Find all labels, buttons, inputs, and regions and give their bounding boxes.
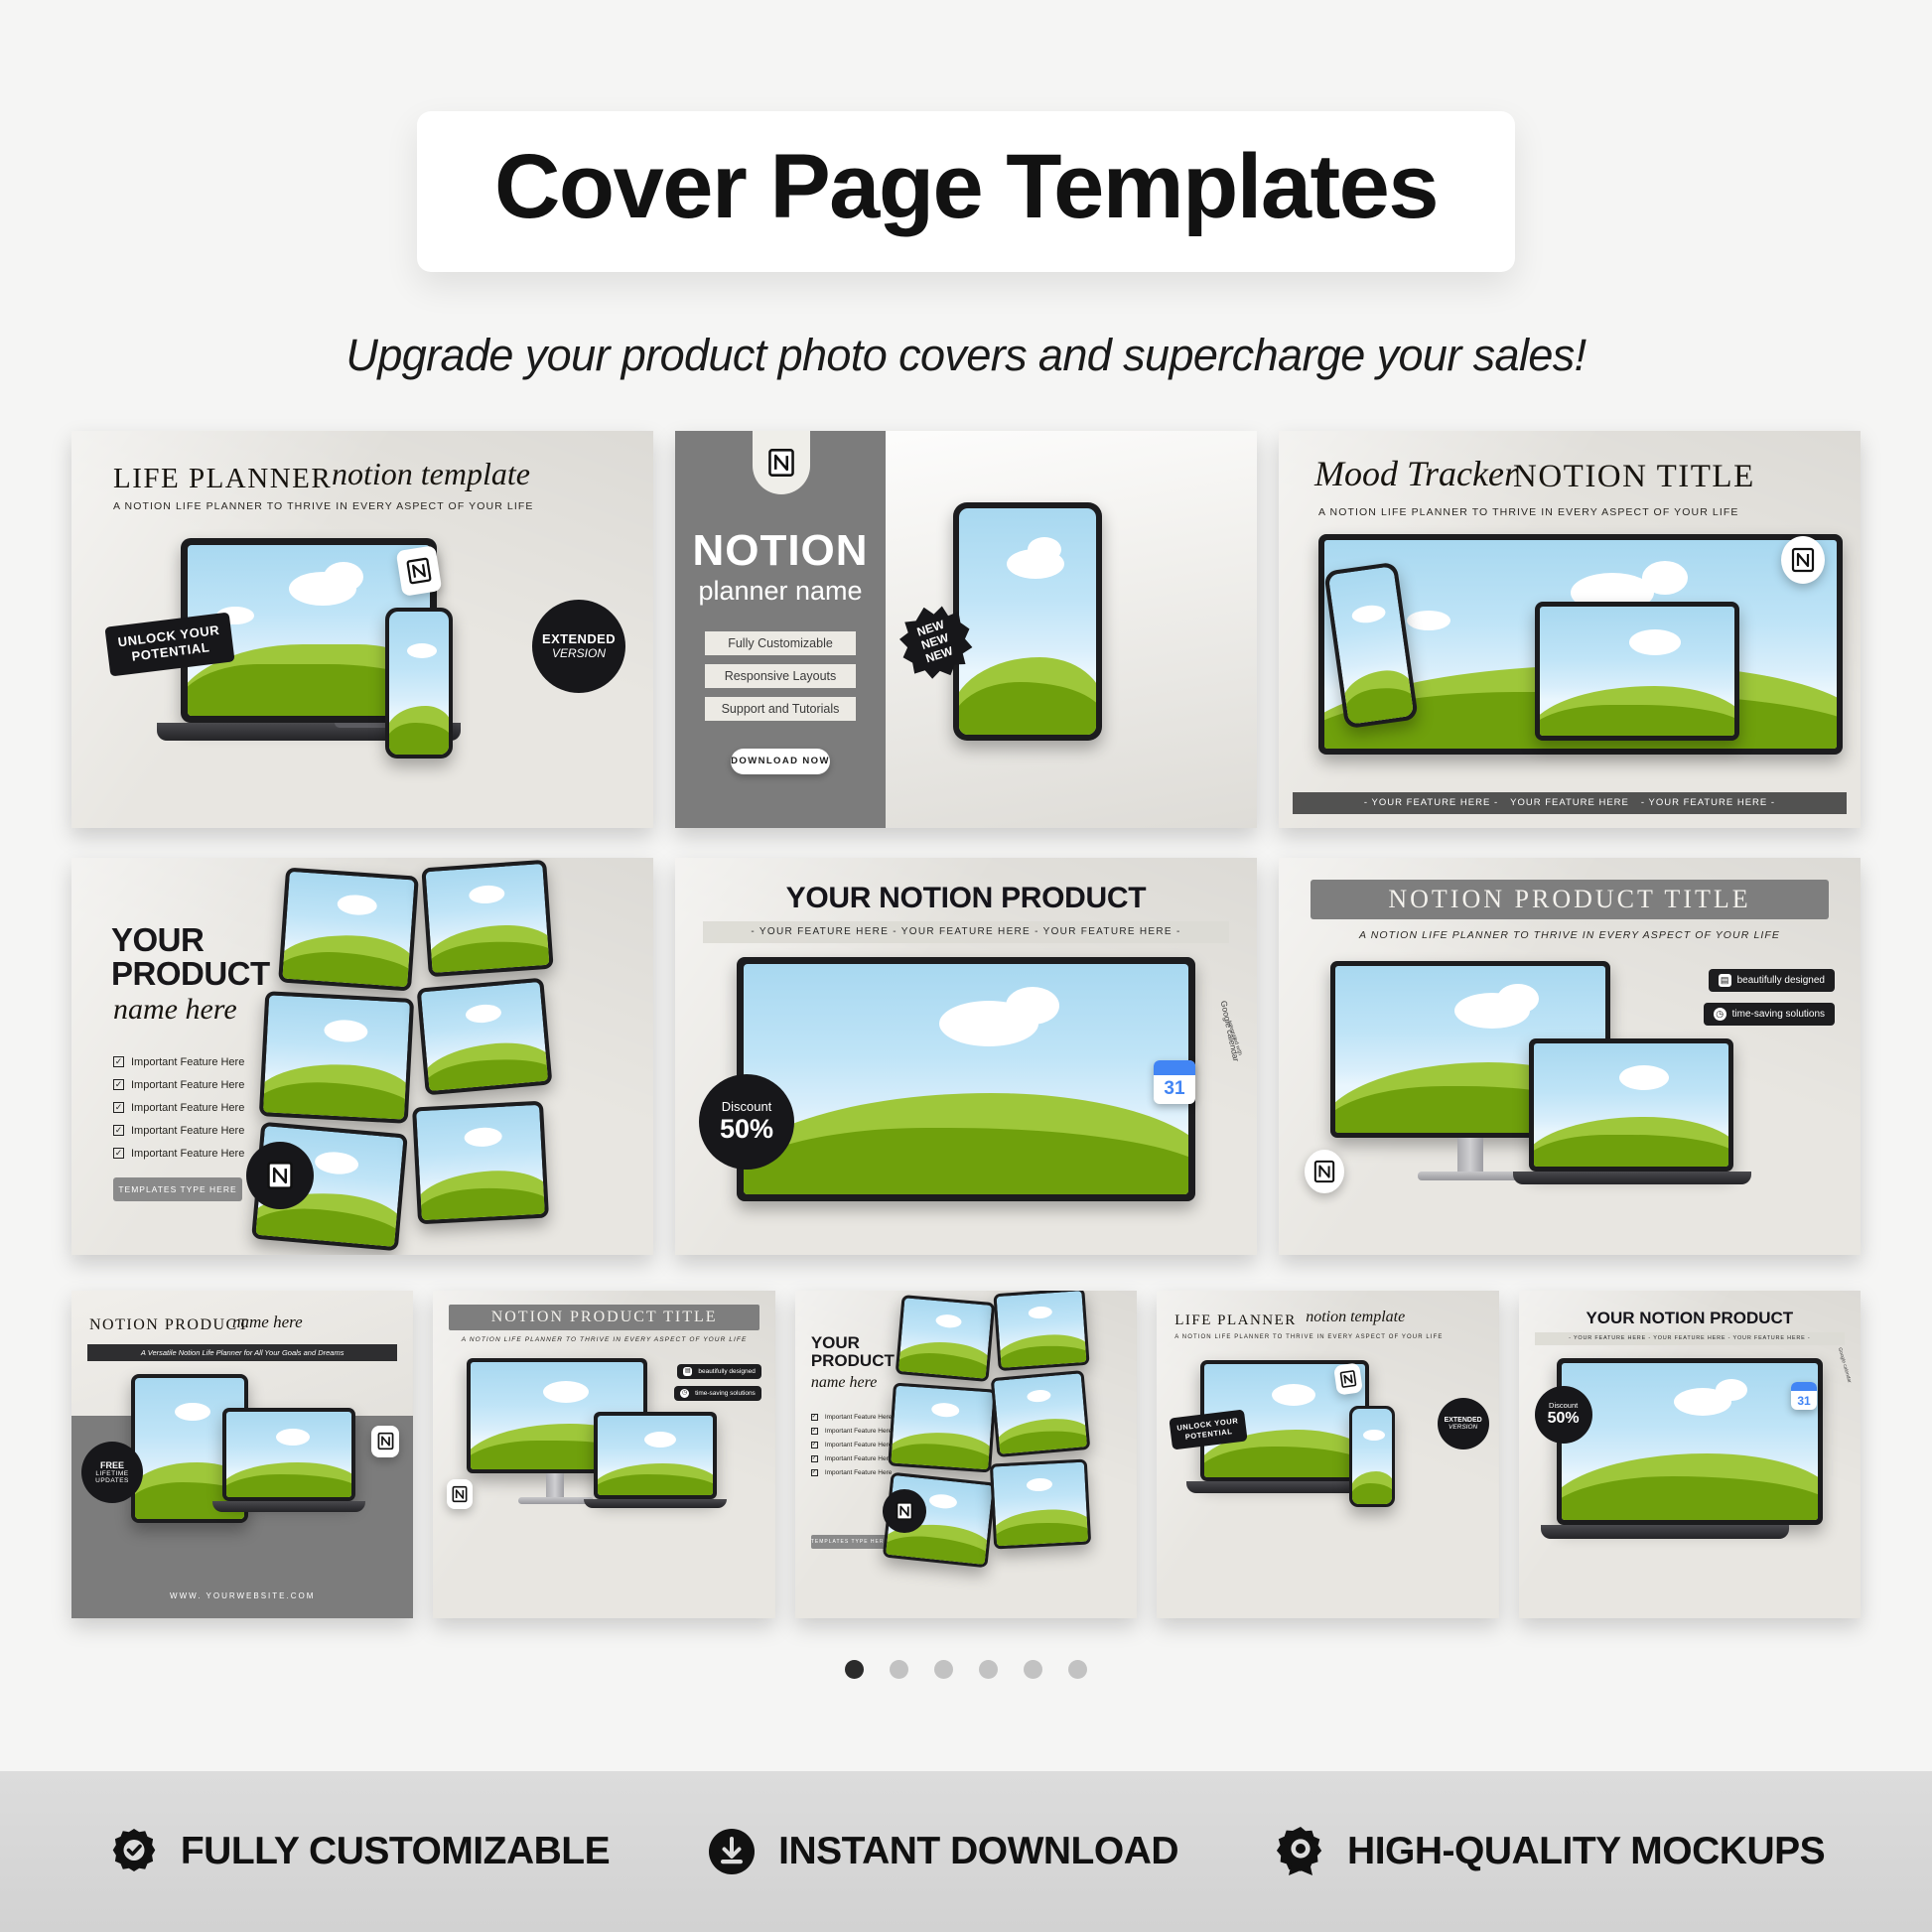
check-icon: ✓ bbox=[811, 1442, 818, 1449]
laptop-base bbox=[1513, 1172, 1751, 1184]
title-plate: Cover Page Templates bbox=[417, 111, 1515, 272]
card4-title-line-1: YOUR bbox=[111, 923, 204, 958]
phone-device bbox=[385, 608, 453, 759]
time-saving-chip: ◷ time-saving solutions bbox=[674, 1386, 761, 1401]
card3-feature-strip: - YOUR FEATURE HERE - YOUR FEATURE HERE … bbox=[1293, 792, 1847, 814]
check-icon: ✓ bbox=[811, 1414, 818, 1421]
feature-item: ✓Important Feature Here bbox=[113, 1125, 244, 1137]
templates-type-button[interactable]: TEMPLATES TYPE HERE bbox=[113, 1177, 242, 1201]
feature-item-3: - YOUR FEATURE HERE - bbox=[1641, 797, 1775, 808]
carousel-dot-4[interactable] bbox=[979, 1660, 998, 1679]
template-card-small-notion-product[interactable]: NOTION PRODUCT name here A Versatile Not… bbox=[71, 1291, 413, 1618]
extended-version-badge: EXTENDED VERSION bbox=[1438, 1398, 1489, 1449]
footer-bar: FULLY CUSTOMIZABLE INSTANT DOWNLOAD HIGH… bbox=[0, 1771, 1932, 1932]
tablet-device bbox=[278, 867, 419, 991]
notion-icon bbox=[447, 1479, 473, 1509]
card6-subtitle: A NOTION LIFE PLANNER TO THRIVE IN EVERY… bbox=[1279, 929, 1861, 941]
gcal-header bbox=[1791, 1382, 1817, 1392]
notion-icon bbox=[371, 1426, 399, 1457]
notion-icon bbox=[396, 545, 443, 597]
feature-item: ✓Important Feature Here bbox=[811, 1428, 893, 1435]
template-card-notion-planner[interactable]: NOTION planner name Fully Customizable R… bbox=[675, 431, 1257, 828]
chip-label: beautifully designed bbox=[1737, 975, 1825, 986]
tablet-device bbox=[417, 977, 553, 1095]
tablet-device bbox=[412, 1100, 549, 1224]
template-card-small-notion-product-discount[interactable]: YOUR NOTION PRODUCT - YOUR FEATURE HERE … bbox=[1519, 1291, 1861, 1618]
laptop-device bbox=[1557, 1358, 1823, 1525]
monitor-screen bbox=[744, 964, 1188, 1194]
phone-screen bbox=[389, 612, 449, 755]
footer-label: FULLY CUSTOMIZABLE bbox=[181, 1830, 610, 1873]
page-header: Cover Page Templates Upgrade your produc… bbox=[0, 0, 1932, 381]
carousel-dots[interactable] bbox=[71, 1660, 1861, 1679]
footer-label: INSTANT DOWNLOAD bbox=[778, 1830, 1178, 1873]
template-card-notion-product[interactable]: YOUR NOTION PRODUCT - YOUR FEATURE HERE … bbox=[675, 858, 1257, 1255]
feature-item-1: - YOUR FEATURE HERE - bbox=[1364, 797, 1498, 808]
feature-item: ✓Important Feature Here bbox=[811, 1455, 893, 1462]
card5-title: YOUR NOTION PRODUCT bbox=[675, 882, 1257, 915]
chip-label: time-saving solutions bbox=[695, 1390, 756, 1397]
s2-subtitle: A NOTION LIFE PLANNER TO THRIVE IN EVERY… bbox=[433, 1336, 774, 1343]
laptop-base bbox=[212, 1501, 365, 1512]
feature-pill-2[interactable]: Responsive Layouts bbox=[705, 664, 856, 688]
page-title: Cover Page Templates bbox=[494, 141, 1438, 234]
free-lifetime-updates-badge: FREE LIFETIME UPDATES bbox=[81, 1442, 143, 1503]
carousel-dot-2[interactable] bbox=[890, 1660, 908, 1679]
beautifully-designed-chip: ▤ beautifully designed bbox=[677, 1364, 760, 1379]
beautifully-designed-chip: ▤ beautifully designed bbox=[1709, 969, 1835, 992]
s1-subtitle: A Versatile Notion Life Planner for All … bbox=[87, 1344, 397, 1361]
footer-item-high-quality-mockups: HIGH-QUALITY MOCKUPS bbox=[1274, 1825, 1825, 1878]
templates-type-button[interactable]: TEMPLATES TYPE HERE bbox=[811, 1535, 889, 1549]
check-icon: ✓ bbox=[113, 1148, 124, 1159]
gear-check-icon bbox=[107, 1825, 161, 1878]
card5-feature-strip: - YOUR FEATURE HERE - YOUR FEATURE HERE … bbox=[703, 921, 1229, 943]
monitor-device bbox=[737, 957, 1195, 1201]
s3-feature-list: ✓Important Feature Here ✓Important Featu… bbox=[811, 1414, 893, 1476]
google-calendar-icon: 31 bbox=[1791, 1382, 1817, 1410]
monitor-foot bbox=[1418, 1172, 1525, 1180]
feature-label: Important Feature Here bbox=[131, 1125, 244, 1137]
gcal-day: 31 bbox=[1154, 1075, 1195, 1104]
card1-subtitle: A NOTION LIFE PLANNER TO THRIVE IN EVERY… bbox=[113, 500, 534, 512]
feature-pill-1[interactable]: Fully Customizable bbox=[705, 631, 856, 655]
card6-title: NOTION PRODUCT TITLE bbox=[1311, 880, 1829, 919]
template-card-mood-tracker[interactable]: Mood Tracker NOTION TITLE A NOTION LIFE … bbox=[1279, 431, 1861, 828]
s3-title-script: name here bbox=[811, 1374, 878, 1392]
feature-label: Important Feature Here bbox=[131, 1056, 244, 1068]
notion-icon bbox=[753, 431, 810, 494]
s4-title-serif: LIFE PLANNER bbox=[1174, 1312, 1297, 1329]
footer-label: HIGH-QUALITY MOCKUPS bbox=[1347, 1830, 1825, 1873]
feature-label: Important Feature Here bbox=[825, 1428, 893, 1435]
discount-value: 50% bbox=[720, 1114, 773, 1145]
template-card-notion-product-title[interactable]: NOTION PRODUCT TITLE A NOTION LIFE PLANN… bbox=[1279, 858, 1861, 1255]
monitor-foot bbox=[518, 1497, 594, 1504]
tablet-device bbox=[990, 1458, 1091, 1549]
screen-artwork bbox=[959, 508, 1096, 735]
chip-label: time-saving solutions bbox=[1732, 1009, 1825, 1020]
card1-title-serif: LIFE PLANNER bbox=[113, 463, 332, 495]
carousel-dot-1[interactable] bbox=[845, 1660, 864, 1679]
s1-website: WWW. YOURWEBSITE.COM bbox=[71, 1591, 413, 1600]
notion-icon bbox=[1305, 1150, 1344, 1193]
badge-line-1: EXTENDED bbox=[1445, 1417, 1482, 1424]
card3-subtitle: A NOTION LIFE PLANNER TO THRIVE IN EVERY… bbox=[1318, 506, 1739, 518]
phone-device bbox=[1349, 1406, 1395, 1507]
check-icon: ✓ bbox=[113, 1102, 124, 1113]
tablet-device bbox=[993, 1291, 1089, 1371]
card4-feature-list: ✓Important Feature Here ✓Important Featu… bbox=[113, 1056, 244, 1160]
badge-line-1: FREE bbox=[100, 1460, 124, 1470]
screen-artwork bbox=[744, 964, 1188, 1194]
clock-icon: ◷ bbox=[1714, 1008, 1726, 1021]
laptop-device bbox=[1529, 1038, 1733, 1172]
feature-label: Important Feature Here bbox=[825, 1414, 893, 1421]
notion-icon bbox=[1781, 536, 1825, 584]
template-card-small-life-planner[interactable]: LIFE PLANNER notion template A NOTION LI… bbox=[1157, 1291, 1498, 1618]
template-card-your-product[interactable]: YOUR PRODUCT name here ✓Important Featur… bbox=[71, 858, 653, 1255]
feature-item: ✓Important Feature Here bbox=[811, 1442, 893, 1449]
s2-title: NOTION PRODUCT TITLE bbox=[449, 1305, 759, 1330]
carousel-dot-5[interactable] bbox=[1024, 1660, 1042, 1679]
feature-pill-3[interactable]: Support and Tutorials bbox=[705, 697, 856, 721]
feature-item: ✓Important Feature Here bbox=[113, 1102, 244, 1114]
notion-icon bbox=[883, 1489, 926, 1533]
clock-icon: ◷ bbox=[680, 1389, 689, 1398]
laptop-device bbox=[222, 1408, 355, 1501]
card2-brand: NOTION bbox=[675, 526, 886, 576]
s4-title-script: notion template bbox=[1306, 1309, 1405, 1326]
template-card-small-product-title[interactable]: NOTION PRODUCT TITLE A NOTION LIFE PLANN… bbox=[433, 1291, 774, 1618]
carousel-dot-3[interactable] bbox=[934, 1660, 953, 1679]
feature-label: Important Feature Here bbox=[131, 1079, 244, 1091]
tablet-screen bbox=[959, 508, 1096, 735]
feature-label: Important Feature Here bbox=[131, 1148, 244, 1160]
discount-badge: Discount 50% bbox=[1535, 1386, 1592, 1444]
footer-item-fully-customizable: FULLY CUSTOMIZABLE bbox=[107, 1825, 610, 1878]
discount-label: Discount bbox=[722, 1099, 772, 1114]
template-row-3: NOTION PRODUCT name here A Versatile Not… bbox=[71, 1291, 1861, 1618]
check-icon: ✓ bbox=[113, 1056, 124, 1067]
s3-title-line-2: PRODUCT bbox=[811, 1352, 895, 1370]
s5-feature-strip: - YOUR FEATURE HERE - YOUR FEATURE HERE … bbox=[1535, 1332, 1845, 1345]
tablet-device bbox=[953, 502, 1102, 741]
feature-label: Important Feature Here bbox=[825, 1469, 893, 1476]
screen-artwork bbox=[1540, 607, 1734, 736]
card1-title-script: notion template bbox=[332, 456, 530, 492]
check-icon: ✓ bbox=[811, 1469, 818, 1476]
s3-title-line-1: YOUR bbox=[811, 1334, 860, 1352]
laptop-base bbox=[584, 1499, 727, 1508]
card4-title-line-2: PRODUCT bbox=[111, 957, 270, 992]
check-icon: ✓ bbox=[811, 1455, 818, 1462]
layout-icon: ▤ bbox=[1719, 974, 1731, 987]
discount-value: 50% bbox=[1548, 1410, 1580, 1428]
layout-icon: ▤ bbox=[683, 1367, 692, 1376]
tablet-device bbox=[259, 991, 414, 1124]
laptop-base bbox=[1541, 1525, 1789, 1539]
tablet-device bbox=[896, 1295, 996, 1382]
discount-label: Discount bbox=[1549, 1401, 1578, 1410]
google-calendar-icon: 31 bbox=[1154, 1060, 1195, 1104]
monitor-stand bbox=[546, 1473, 564, 1499]
feature-label: Important Feature Here bbox=[825, 1442, 893, 1449]
discount-badge: Discount 50% bbox=[699, 1074, 794, 1170]
template-card-small-your-product[interactable]: YOUR PRODUCT name here ✓Important Featur… bbox=[795, 1291, 1137, 1618]
feature-item: ✓Important Feature Here bbox=[113, 1079, 244, 1091]
badge-line-2: VERSION bbox=[552, 646, 606, 660]
notion-icon bbox=[1333, 1362, 1363, 1395]
card3-title-serif: NOTION TITLE bbox=[1513, 459, 1755, 495]
feature-item-2: YOUR FEATURE HERE bbox=[1510, 797, 1629, 808]
s1-title-serif: NOTION PRODUCT bbox=[89, 1316, 249, 1334]
s5-title: YOUR NOTION PRODUCT bbox=[1519, 1309, 1861, 1328]
gcal-header bbox=[1154, 1060, 1195, 1075]
feature-item: ✓Important Feature Here bbox=[811, 1414, 893, 1421]
page-subtitle: Upgrade your product photo covers and su… bbox=[0, 330, 1932, 381]
feature-item: ✓Important Feature Here bbox=[113, 1148, 244, 1160]
notion-icon bbox=[246, 1142, 314, 1209]
check-icon: ✓ bbox=[811, 1428, 818, 1435]
time-saving-chip: ◷ time-saving solutions bbox=[1704, 1003, 1835, 1026]
template-row-2: YOUR PRODUCT name here ✓Important Featur… bbox=[71, 858, 1861, 1255]
feature-label: Important Feature Here bbox=[131, 1102, 244, 1114]
extended-version-badge: EXTENDED VERSION bbox=[532, 600, 625, 693]
tablet-device bbox=[888, 1382, 997, 1472]
download-circle-icon bbox=[705, 1825, 759, 1878]
check-icon: ✓ bbox=[113, 1079, 124, 1090]
s4-subtitle: A NOTION LIFE PLANNER TO THRIVE IN EVERY… bbox=[1174, 1334, 1443, 1340]
feature-item: ✓Important Feature Here bbox=[113, 1056, 244, 1068]
laptop-device bbox=[1535, 602, 1739, 741]
screen-artwork bbox=[389, 612, 449, 755]
template-row-1: LIFE PLANNER notion template A NOTION LI… bbox=[71, 431, 1861, 828]
card3-title-script: Mood Tracker bbox=[1314, 453, 1518, 494]
s1-title-script: name here bbox=[232, 1312, 303, 1332]
footer-item-instant-download: INSTANT DOWNLOAD bbox=[705, 1825, 1178, 1878]
template-card-life-planner[interactable]: LIFE PLANNER notion template A NOTION LI… bbox=[71, 431, 653, 828]
award-badge-icon bbox=[1274, 1825, 1327, 1878]
badge-line-1: EXTENDED bbox=[542, 631, 616, 646]
feature-label: Important Feature Here bbox=[825, 1455, 893, 1462]
laptop-device bbox=[594, 1412, 717, 1499]
feature-item: ✓Important Feature Here bbox=[811, 1469, 893, 1476]
laptop-screen bbox=[1540, 607, 1734, 736]
download-now-button[interactable]: DOWNLOAD NOW bbox=[731, 749, 830, 774]
card4-title-script: name here bbox=[113, 993, 237, 1027]
card2-name: planner name bbox=[675, 576, 886, 607]
carousel-dot-6[interactable] bbox=[1068, 1660, 1087, 1679]
tablet-device bbox=[421, 860, 553, 978]
gcal-day: 31 bbox=[1791, 1391, 1817, 1409]
chip-label: beautifully designed bbox=[698, 1368, 755, 1375]
badge-line-3: UPDATES bbox=[95, 1477, 129, 1484]
monitor-stand bbox=[1457, 1138, 1483, 1173]
badge-line-2: VERSION bbox=[1449, 1424, 1477, 1431]
badge-line-2: LIFETIME bbox=[95, 1470, 128, 1477]
template-grid: LIFE PLANNER notion template A NOTION LI… bbox=[0, 431, 1932, 1679]
check-icon: ✓ bbox=[113, 1125, 124, 1136]
laptop-notch bbox=[335, 723, 390, 728]
tablet-device bbox=[991, 1370, 1091, 1457]
